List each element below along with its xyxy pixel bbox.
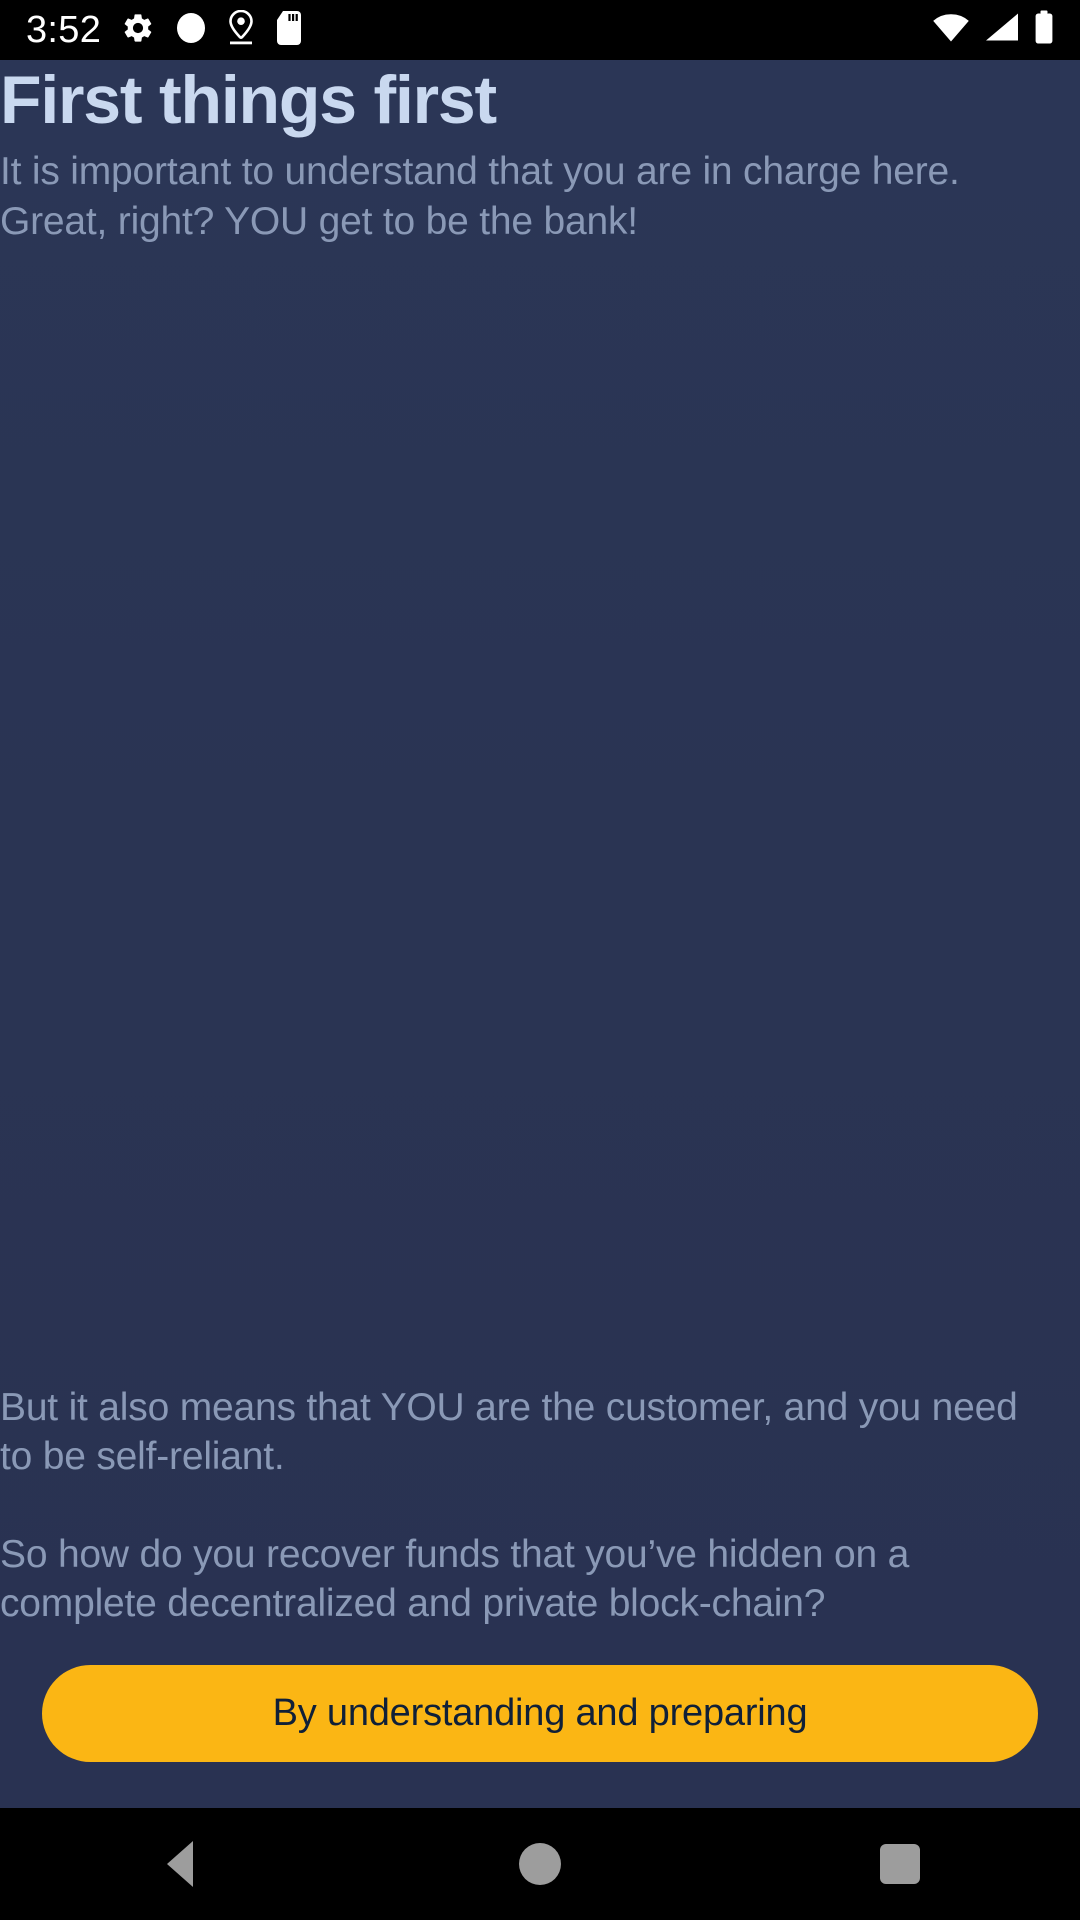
circle-icon — [519, 1843, 561, 1885]
triangle-left-icon — [167, 1841, 193, 1887]
nav-back-button[interactable] — [100, 1808, 260, 1920]
square-icon — [880, 1844, 920, 1884]
cta-container: By understanding and preparing — [0, 1629, 1080, 1808]
location-pin-icon — [227, 10, 255, 51]
status-bar-clock: 3:52 — [26, 11, 101, 49]
body-paragraph-2: So how do you recover funds that you’ve … — [0, 1530, 1036, 1629]
flex-spacer — [0, 247, 1080, 1383]
status-bar: 3:52 — [0, 0, 1080, 60]
battery-icon — [1034, 11, 1054, 50]
continue-button[interactable]: By understanding and preparing — [42, 1665, 1038, 1762]
nav-recents-button[interactable] — [820, 1808, 980, 1920]
body-block: But it also means that YOU are the custo… — [0, 1383, 1080, 1629]
page-subtitle: It is important to understand that you a… — [0, 137, 1080, 247]
cellular-signal-icon — [984, 13, 1020, 48]
phone-screen: 3:52 — [0, 0, 1080, 1920]
page-title: First things first — [0, 64, 1080, 137]
nav-home-button[interactable] — [460, 1808, 620, 1920]
header-block: First things first It is important to un… — [0, 64, 1080, 247]
gear-icon — [121, 11, 155, 50]
status-bar-right — [932, 11, 1054, 50]
circle-icon — [175, 11, 207, 50]
wifi-icon — [932, 13, 970, 48]
onboarding-content: First things first It is important to un… — [0, 60, 1080, 1808]
status-bar-left: 3:52 — [26, 10, 303, 51]
android-navigation-bar — [0, 1808, 1080, 1920]
body-paragraph-1: But it also means that YOU are the custo… — [0, 1383, 1036, 1482]
sd-card-icon — [275, 10, 303, 51]
